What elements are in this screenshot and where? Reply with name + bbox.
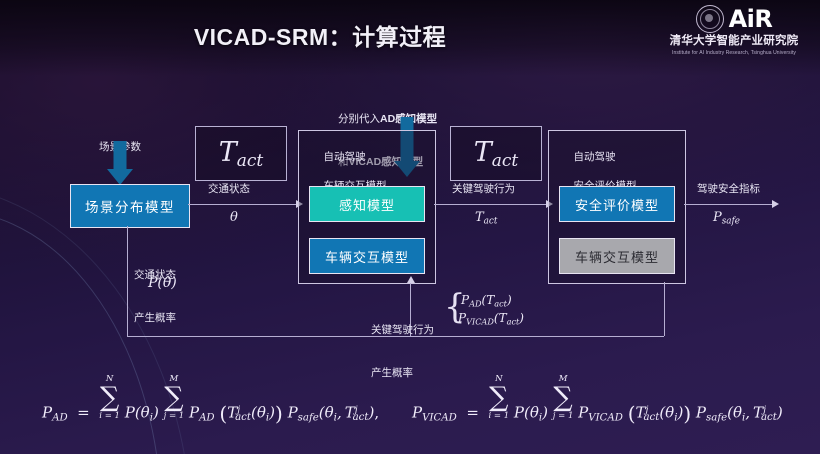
tact-box-2-sub: act	[492, 150, 519, 170]
formula-vicad-lhs: P	[412, 403, 422, 421]
formula-vicad-psafe: P	[696, 403, 706, 421]
formula-vicad-theta: θ	[665, 403, 674, 421]
brace-item-vicad-p: P	[458, 311, 466, 325]
formula-ad-theta2: θ	[325, 403, 334, 421]
formula-vicad-tact-sub: act	[643, 412, 659, 423]
formula-ad-sum1: N∑i = 1	[99, 375, 120, 421]
brace-item-ad-p: P	[461, 293, 469, 307]
connector-safety-output-arrowhead	[772, 200, 779, 208]
connector-safety-output	[684, 204, 774, 205]
page-title: VICAD-SRM：计算过程	[0, 18, 640, 52]
traffic-prob-line2: 产生概率	[134, 311, 176, 325]
label-safety-metric-symbol: Psafe	[713, 210, 740, 226]
chip-safety-evaluation-model-label: 安全评价模型	[575, 195, 659, 214]
loop-left-vertical	[127, 226, 128, 336]
connector-scene-to-ad	[188, 204, 298, 205]
slide-canvas: VICAD-SRM：计算过程 AiR 清华大学智能产业研究院 Institute…	[0, 0, 820, 454]
formula-ad-lhs: P	[42, 403, 52, 421]
formula-ad-model-sub: AD	[199, 412, 215, 423]
formula-ad-lhs-sub: AD	[52, 412, 68, 423]
node-scene-distribution[interactable]: 场景分布模型	[70, 184, 190, 228]
label-safety-metric-symbol-sub: safe	[722, 216, 740, 226]
substitute-line1-prefix: 分别代入	[338, 113, 380, 125]
label-safety-metric: 驾驶安全指标	[697, 182, 760, 196]
tact-box-2-symbol: T	[474, 137, 492, 168]
tsinghua-seal-icon	[696, 5, 724, 33]
formula-vicad-tact2-sub: act	[761, 412, 777, 423]
tact-box-1-symbol: T	[219, 137, 237, 168]
down-arrow-scene-param	[107, 141, 133, 185]
formula-vicad: PVICAD = N∑i = 1 P(θi) M∑j = 1 PVICAD (T…	[412, 375, 783, 426]
formula-vicad-sum1: N∑i = 1	[488, 375, 509, 421]
node-scene-distribution-label: 场景分布模型	[85, 196, 175, 216]
formula-vicad-model-sub: VICAD	[588, 412, 623, 423]
brace-item-ad: PAD(Tact)	[461, 293, 512, 308]
formula-ad-theta: θ	[257, 403, 266, 421]
label-key-behavior-symbol-base: T	[475, 210, 484, 225]
formula-ad-theta2-sub: i	[334, 412, 337, 423]
label-traffic-state-symbol: θ	[230, 210, 238, 225]
formula-vicad-sum1-bottom: i = 1	[488, 412, 509, 421]
logo-wordmark: AiR	[729, 7, 773, 31]
brace-item-vicad-arg-sub: act	[507, 316, 520, 326]
traffic-prob-symbol: P(θ)	[148, 275, 177, 291]
traffic-prob-annotation: 交通状态 产生概率	[134, 240, 176, 353]
loop-right-vertical	[664, 282, 665, 336]
brace-item-vicad: PVICAD(Tact)	[458, 311, 524, 326]
formula-ad: PAD = N∑i = 1 P(θi) M∑j = 1 PAD (Tjact(θ…	[42, 375, 379, 426]
label-safety-metric-symbol-base: P	[713, 210, 722, 225]
formula-vicad-prob: P(θ	[514, 403, 539, 421]
formula-ad-sum1-bottom: i = 1	[99, 412, 120, 421]
brace-item-ad-arg-sub: act	[494, 298, 507, 308]
formula-vicad-theta-sub: i	[674, 412, 677, 423]
formula-vicad-sum2-bottom: j = 1	[553, 412, 574, 421]
logo-chinese-name: 清华大学智能产业研究院	[656, 35, 812, 48]
label-key-behavior-symbol: Tact	[475, 210, 497, 226]
formula-ad-tact2-sub: act	[353, 412, 369, 423]
formula-ad-tact-sub: act	[235, 412, 251, 423]
formula-ad-sum2-bottom: j = 1	[164, 412, 185, 421]
chip-ad-vehicle-interaction-model-label: 车辆交互模型	[325, 247, 409, 266]
chip-safety-vehicle-interaction-model-label: 车辆交互模型	[575, 247, 659, 266]
chip-safety-evaluation-model[interactable]: 安全评价模型	[559, 186, 675, 222]
formula-ad-trailing: ,	[374, 403, 379, 421]
key-behavior-prob-line1: 关键驾驶行为	[371, 323, 434, 337]
formula-vicad-prob-sub: i	[539, 412, 542, 423]
chip-ad-vehicle-interaction-model[interactable]: 车辆交互模型	[309, 238, 425, 274]
tact-box-1: Tact	[195, 126, 287, 181]
loop-mid-arrowhead	[407, 276, 415, 283]
formula-ad-psafe: P	[288, 403, 298, 421]
brace-item-ad-p-sub: AD	[469, 298, 481, 308]
formula-vicad-sum2: M∑j = 1	[553, 375, 574, 421]
connector-ad-to-safety	[434, 204, 548, 205]
formula-vicad-theta2-sub: i	[742, 412, 745, 423]
label-key-behavior-symbol-sub: act	[484, 216, 498, 226]
formula-ad-psafe-sub: safe	[298, 412, 319, 423]
brace-item-vicad-arg: T	[499, 311, 507, 325]
tact-box-2: Tact	[450, 126, 542, 181]
formula-ad-theta-sub: i	[266, 412, 269, 423]
formula-vicad-lhs-sub: VICAD	[422, 412, 457, 423]
air-logo: AiR 清华大学智能产业研究院 Institute for AI Industr…	[656, 4, 812, 62]
logo-english-name: Institute for AI Industry Research, Tsin…	[656, 50, 812, 56]
formula-vicad-theta2: θ	[733, 403, 742, 421]
tact-box-1-sub: act	[237, 150, 264, 170]
chip-perception-model-label: 感知模型	[339, 195, 395, 214]
formula-ad-prob-sub: i	[150, 412, 153, 423]
formula-ad-prob: P(θ	[125, 403, 150, 421]
chip-perception-model[interactable]: 感知模型	[309, 186, 425, 222]
label-key-behavior: 关键驾驶行为	[452, 182, 515, 196]
formula-vicad-psafe-sub: safe	[706, 412, 727, 423]
formula-ad-sum2: M∑j = 1	[164, 375, 185, 421]
label-traffic-state: 交通状态	[208, 182, 250, 196]
formula-ad-model: P	[189, 403, 199, 421]
brace-item-vicad-p-sub: VICAD	[466, 316, 494, 326]
panel-ad-caption-line1: 自动驾驶	[324, 151, 366, 163]
formula-vicad-model: P	[578, 403, 588, 421]
panel-safety-caption-line1: 自动驾驶	[574, 151, 616, 163]
substitute-line1: 分别代入AD感知模型	[338, 112, 437, 126]
chip-safety-vehicle-interaction-model[interactable]: 车辆交互模型	[559, 238, 675, 274]
